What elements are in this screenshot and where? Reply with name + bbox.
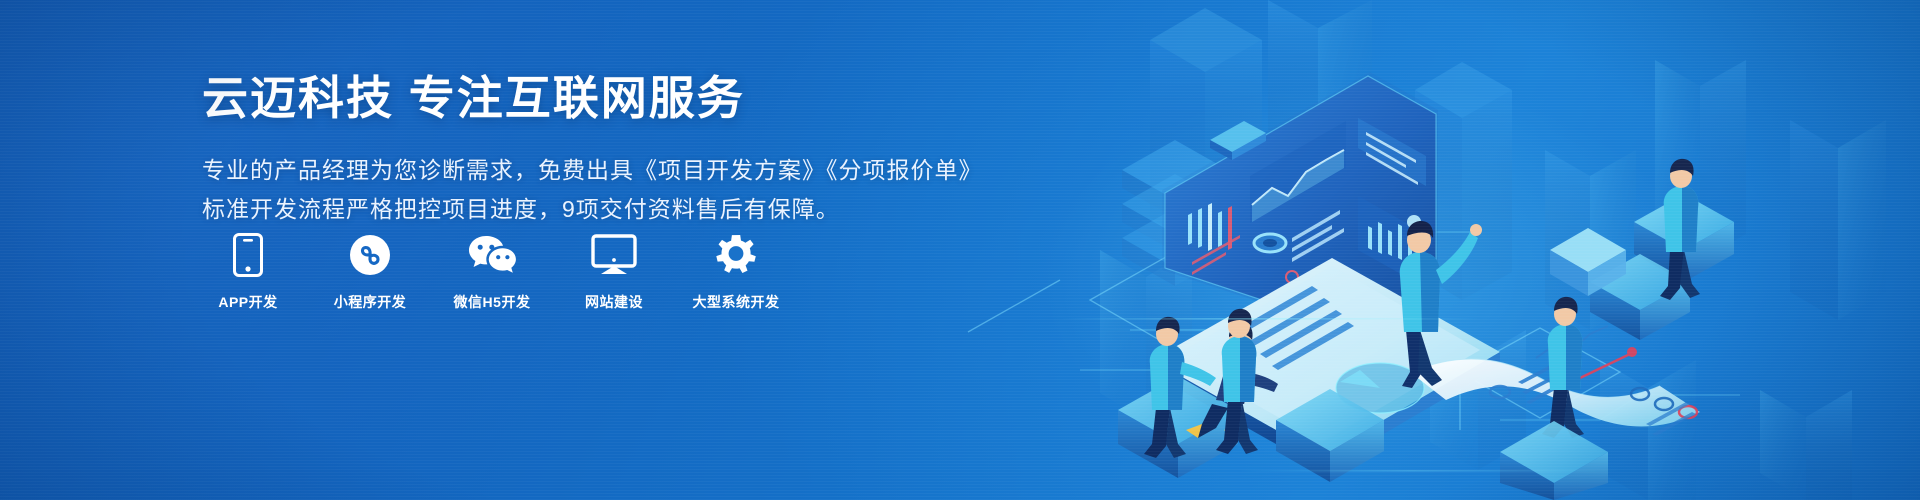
page-title: 云迈科技 专注互联网服务 [202,72,962,125]
wechat-icon [467,232,517,278]
service-item-system[interactable]: 大型系统开发 [688,232,784,312]
banner-copy: 云迈科技 专注互联网服务 专业的产品经理为您诊断需求，免费出具《项目开发方案》《… [202,72,962,230]
service-label: 大型系统开发 [693,292,780,312]
subtitle-line-2: 标准开发流程严格把控项目进度，9项交付资料售后有保障。 [202,190,962,230]
service-label: 微信H5开发 [454,292,531,312]
mobile-phone-icon [233,232,263,278]
service-item-app[interactable]: APP开发 [200,232,296,312]
monitor-icon [591,232,637,278]
mini-program-icon [349,232,391,278]
hero-illustration [940,0,1920,500]
service-item-wechat-h5[interactable]: 微信H5开发 [444,232,540,312]
banner-subtitle: 专业的产品经理为您诊断需求，免费出具《项目开发方案》《分项报价单》 标准开发流程… [202,151,962,230]
hero-banner: 云迈科技 专注互联网服务 专业的产品经理为您诊断需求，免费出具《项目开发方案》《… [0,0,1920,500]
service-item-mini-program[interactable]: 小程序开发 [322,232,418,312]
subtitle-line-1: 专业的产品经理为您诊断需求，免费出具《项目开发方案》《分项报价单》 [202,151,962,191]
service-list: APP开发 小程序开发 [200,232,784,312]
service-label: 网站建设 [585,292,643,312]
service-label: 小程序开发 [334,292,407,312]
service-label: APP开发 [218,292,277,312]
service-item-website[interactable]: 网站建设 [566,232,662,312]
gear-icon [714,232,758,278]
